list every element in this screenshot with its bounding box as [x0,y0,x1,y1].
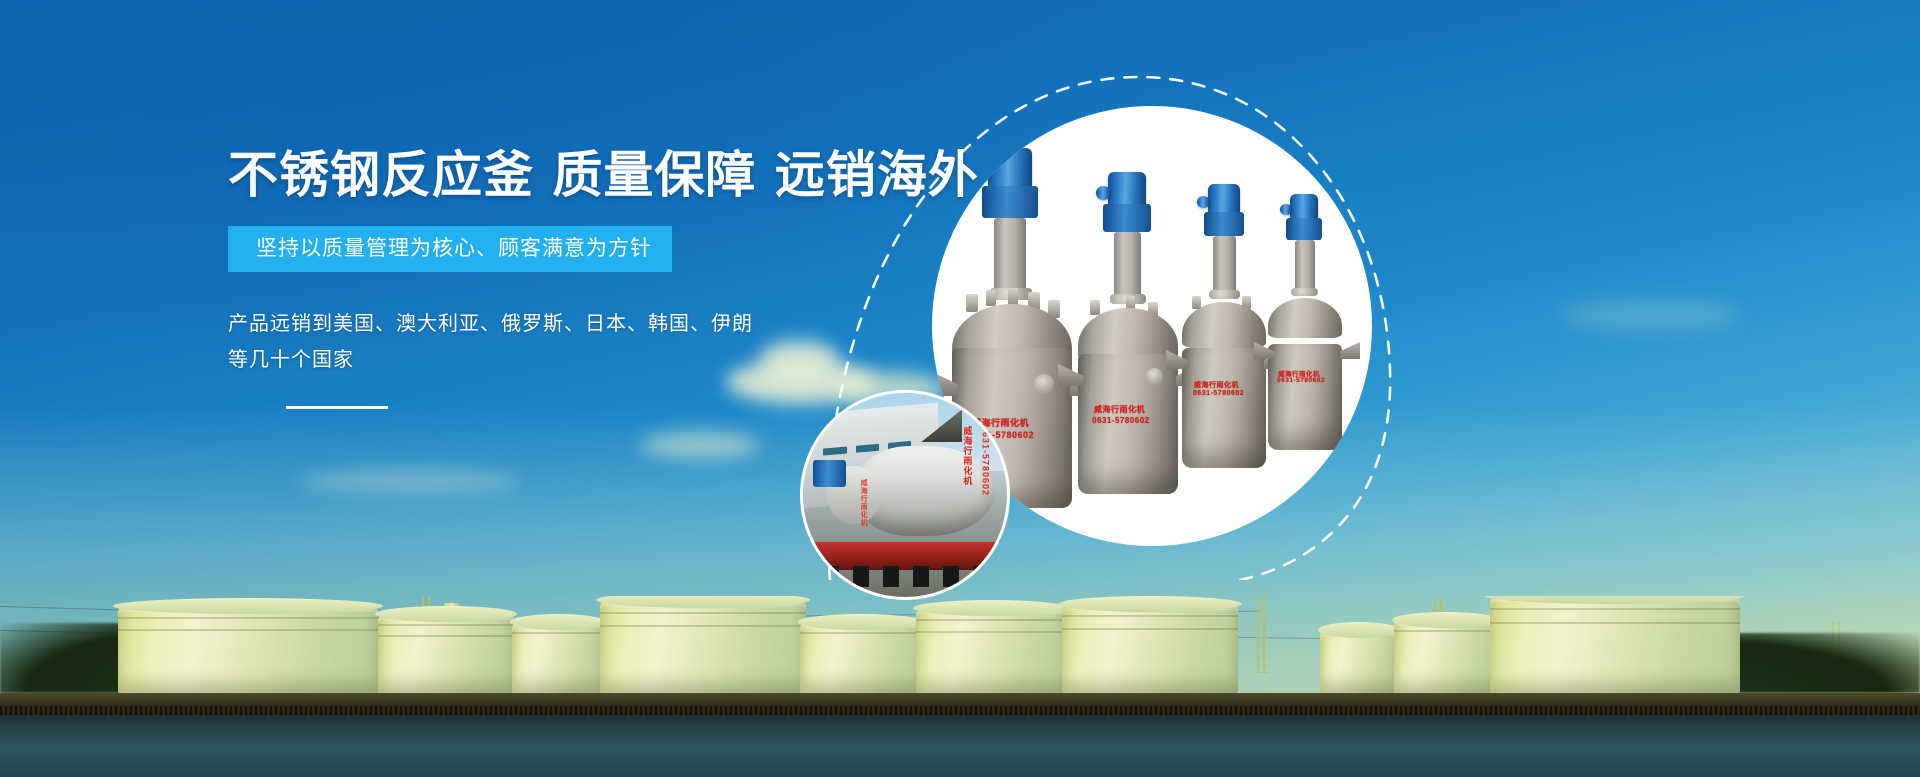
watermark-company: 威海行雨化机 [961,426,974,486]
storage-tank [1490,597,1740,693]
storage-tank [916,609,1066,693]
watermark-company: 威海行雨化机 [1094,404,1145,415]
storage-tank [1394,621,1498,693]
storage-tank [378,615,514,693]
harbour-water [0,715,1920,777]
subtitle-highlight-bar: 坚持以质量管理为核心、顾客满意为方针 [228,226,672,272]
storage-tank [1320,631,1398,693]
watermark-phone: 0631-5780602 [1092,416,1150,425]
divider-rule [286,406,388,409]
watermark-phone: 0631-5780602 [981,426,991,496]
storage-tank [1062,605,1238,693]
reactor-vessel: 威海行雨化机 0631-5780602 [1268,194,1348,450]
storage-tank [600,601,806,693]
storage-tank [118,607,378,693]
cloud-shape [640,432,760,458]
tank-farm-scene [0,596,1920,777]
truck-wheels [823,566,986,586]
motor-unit [813,460,846,487]
watermark-company: 威海行雨化机 [1194,380,1239,390]
transmission-pylon [1255,596,1269,673]
watermark-phone: 0631-5780602 [1193,390,1244,397]
quay-wall [0,693,1920,715]
watermark-phone: 0631-5780602 [1277,377,1325,384]
description-line-1: 产品远销到美国、澳大利亚、俄罗斯、日本、韩国、伊朗 [228,306,928,342]
page-title: 不锈钢反应釜 质量保障 远销海外 [228,150,928,200]
storage-tank [512,623,604,693]
watermark-company-small: 威海行雨化机 [858,479,868,527]
storage-tank [800,623,922,693]
banner-copy: 不锈钢反应釜 质量保障 远销海外 坚持以质量管理为核心、顾客满意为方针 产品远销… [228,150,928,409]
cloud-shape [300,470,520,492]
cloud-shape [1560,300,1740,330]
description-paragraph: 产品远销到美国、澳大利亚、俄罗斯、日本、韩国、伊朗 等几十个国家 [228,306,928,378]
hero-banner: 威海行雨化机 0631-5780602 威海行雨化机 0631-57806 [0,0,1920,777]
description-line-2: 等几十个国家 [228,342,928,378]
reactor-vessel: 威海行雨化机 0631-5780602 [1182,184,1274,468]
secondary-photo-circle: 威海行雨化机 0631-5780602 威海行雨化机 [800,390,1010,600]
reactor-vessel: 威海行雨化机 0631-5780602 [1078,172,1188,494]
